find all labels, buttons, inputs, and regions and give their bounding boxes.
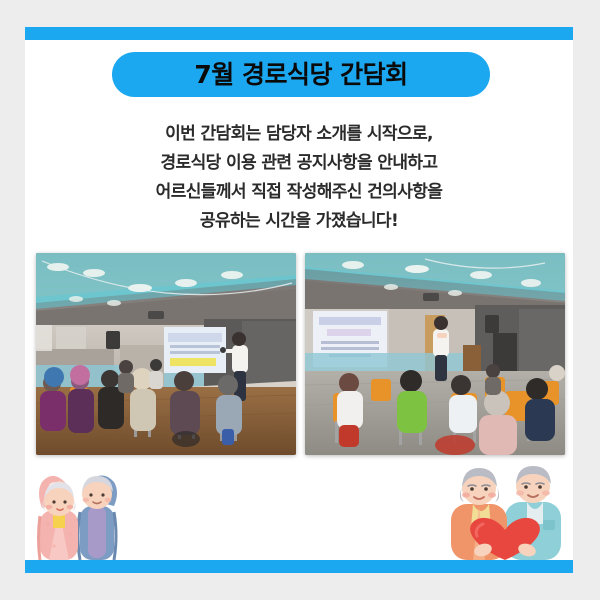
elderly-couple-holding-heart-artwork <box>443 454 568 560</box>
photo-right-artwork <box>305 253 565 455</box>
body-line-2: 경로식당 이용 관련 공지사항을 안내하고 <box>25 149 573 178</box>
title-banner: 7월 경로식당 간담회 <box>112 52 490 97</box>
elderly-couple-holding-heart <box>443 454 568 560</box>
poster-canvas: 7월 경로식당 간담회 이번 간담회는 담당자 소개를 시작으로, 경로식당 이… <box>0 0 600 600</box>
elderly-couple-heart-arms-artwork <box>28 454 124 560</box>
poster-card: 7월 경로식당 간담회 이번 간담회는 담당자 소개를 시작으로, 경로식당 이… <box>25 27 573 573</box>
accent-bar-top <box>25 27 573 40</box>
photo-gallery <box>36 253 565 455</box>
body-paragraph: 이번 간담회는 담당자 소개를 시작으로, 경로식당 이용 관련 공지사항을 안… <box>25 120 573 236</box>
accent-bar-bottom <box>25 560 573 573</box>
body-line-1: 이번 간담회는 담당자 소개를 시작으로, <box>25 120 573 149</box>
body-line-4: 공유하는 시간을 가졌습니다! <box>25 207 573 236</box>
photo-presentation-audience-right <box>305 253 565 455</box>
photo-left-artwork <box>36 253 296 455</box>
photo-presentation-audience-left <box>36 253 296 455</box>
elderly-couple-heart-arms <box>28 454 124 560</box>
body-line-3: 어르신들께서 직접 작성해주신 건의사항을 <box>25 178 573 207</box>
page-title: 7월 경로식당 간담회 <box>194 62 407 87</box>
